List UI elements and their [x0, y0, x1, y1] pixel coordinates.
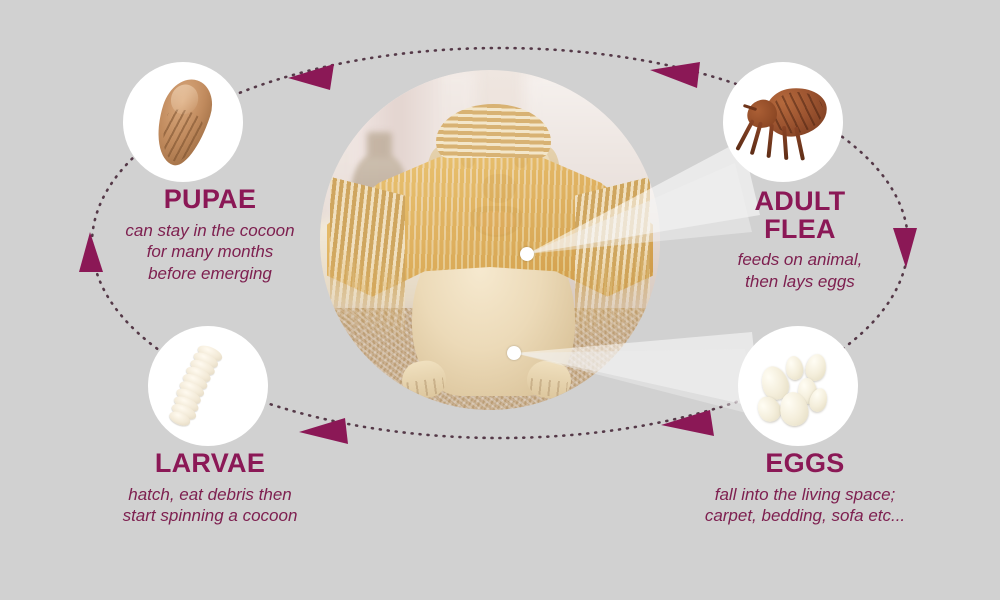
- eggs-in-carpet-hotspot: [507, 346, 521, 360]
- larva-icon: [162, 341, 228, 433]
- eggs-label-block: EGGS fall into the living space; carpet,…: [645, 450, 965, 527]
- pupae-title: PUPAE: [60, 186, 360, 214]
- larvae-title: LARVAE: [55, 450, 365, 478]
- beam-to-eggs-soft: [514, 349, 754, 415]
- eggs-description: fall into the living space; carpet, bedd…: [645, 484, 965, 528]
- adult-flea-title: ADULT FLEA: [650, 188, 950, 243]
- pupa-cocoon-icon: [147, 73, 220, 172]
- adult-flea-label-block: ADULT FLEA feeds on animal, then lays eg…: [650, 188, 950, 293]
- larvae-label-block: LARVAE hatch, eat debris then start spin…: [55, 450, 365, 527]
- flea-eggs-icon: [738, 326, 858, 446]
- flea-life-cycle-infographic: PUPAE can stay in the cocoon for many mo…: [0, 0, 1000, 600]
- adult-flea-icon: [739, 82, 831, 160]
- pupae-label-block: PUPAE can stay in the cocoon for many mo…: [60, 186, 360, 285]
- pupae-description: can stay in the cocoon for many months b…: [60, 220, 360, 285]
- pupae-icon-circle: [123, 62, 243, 182]
- egg: [784, 355, 804, 381]
- larvae-icon-circle: [148, 326, 268, 446]
- adult-flea-description: feeds on animal, then lays eggs: [650, 249, 950, 293]
- adult-flea-icon-circle: [723, 62, 843, 182]
- eggs-title: EGGS: [645, 450, 965, 478]
- eggs-icon-circle: [738, 326, 858, 446]
- flea-on-animal-hotspot: [520, 247, 534, 261]
- larvae-description: hatch, eat debris then start spinning a …: [55, 484, 365, 528]
- flea-leg: [766, 124, 774, 158]
